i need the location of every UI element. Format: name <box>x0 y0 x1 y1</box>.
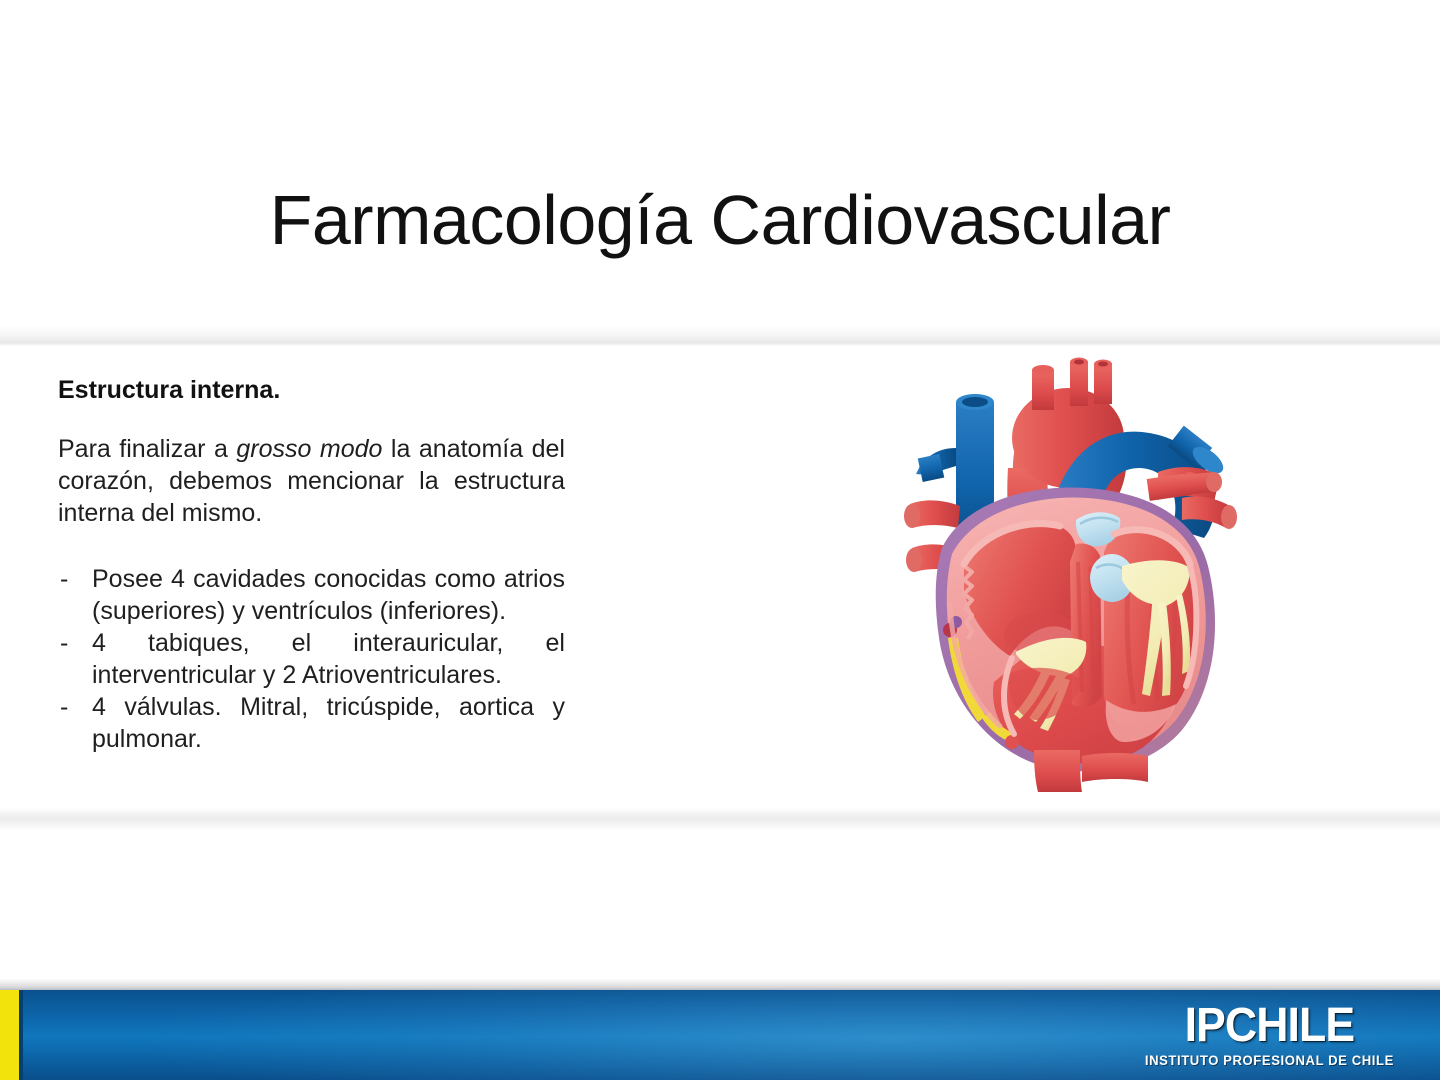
page-title: Farmacología Cardiovascular <box>0 182 1440 259</box>
bullet-dash-marker: - <box>60 691 68 723</box>
bullet-dash-marker: - <box>60 627 68 659</box>
section-heading: Estructura interna. <box>58 375 565 405</box>
list-item-text: 4 válvulas. Mitral, tricúspide, aortica … <box>92 691 565 755</box>
list-item-text: Posee 4 cavidades conocidas como atrios … <box>92 563 565 627</box>
footer-accent-stripe <box>0 990 19 1080</box>
footer-accent-edge <box>19 990 23 1080</box>
bullet-dash-marker: - <box>60 563 68 595</box>
paragraph-part-before: Para finalizar a <box>58 435 236 463</box>
list-item: - 4 válvulas. Mitral, tricúspide, aortic… <box>58 691 565 755</box>
bullet-list: - Posee 4 cavidades conocidas como atrio… <box>58 563 565 755</box>
intro-paragraph: Para finalizar a grosso modo la anatomía… <box>58 433 565 529</box>
list-item-text: 4 tabiques, el interauricular, el interv… <box>92 627 565 691</box>
footer-top-divider <box>0 978 1440 990</box>
slide: Farmacología Cardiovascular Estructura i… <box>0 0 1440 1080</box>
ipchile-logo: IPCHILE INSTITUTO PROFESIONAL DE CHILE <box>1141 1002 1398 1068</box>
paragraph-part-italic: grosso modo <box>236 435 382 463</box>
list-item: - Posee 4 cavidades conocidas como atrio… <box>58 563 565 627</box>
list-item: - 4 tabiques, el interauricular, el inte… <box>58 627 565 691</box>
heart-cross-section-illustration <box>890 352 1250 792</box>
logo-subtitle: INSTITUTO PROFESIONAL DE CHILE <box>1145 1054 1394 1068</box>
logo-wordmark: IPCHILE <box>1150 1002 1389 1050</box>
text-column: Estructura interna. Para finalizar a gro… <box>58 375 565 755</box>
